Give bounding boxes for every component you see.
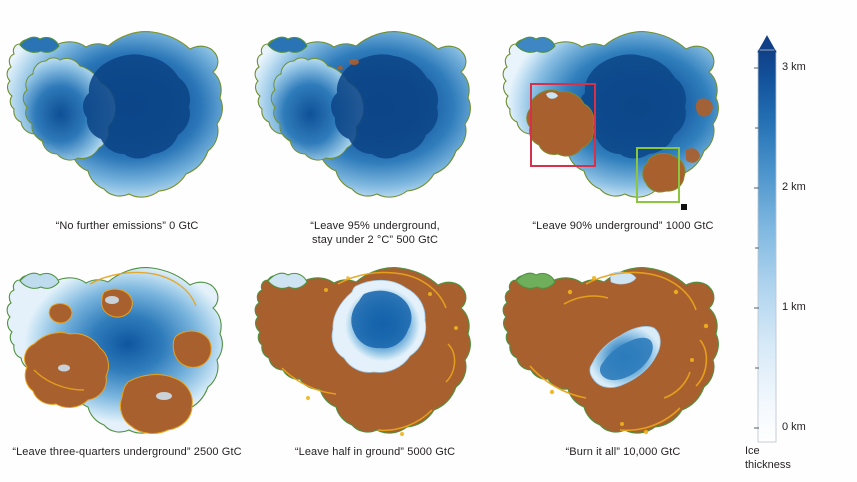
map-no-further-emissions [4, 8, 250, 213]
panel-caption-4: “Leave three-quarters underground” 2500 … [4, 446, 250, 460]
panel-caption-5: “Leave half in ground” 5000 GtC [252, 446, 498, 460]
panel-leave-90-underground: “Leave 90% underground” 1000 GtC [500, 8, 746, 253]
colorbar-tick-0km: 0 km [782, 421, 806, 433]
colorbar-legend: 3 km 2 km 1 km 0 km Ice thickness [745, 20, 857, 482]
panel-caption-2: “Leave 95% underground, stay under 2 °C”… [252, 220, 498, 247]
panel-leave-half-in-ground: “Leave half in ground” 5000 GtC [252, 248, 498, 482]
antarctic-ice-figure: “No further emissions” 0 GtC [0, 0, 857, 482]
panel-burn-it-all: “Burn it all” 10,000 GtC [500, 248, 746, 482]
colorbar-gradient [745, 20, 857, 482]
colorbar-tick-2km: 2 km [782, 181, 806, 193]
panel-caption-6: “Burn it all” 10,000 GtC [500, 446, 746, 460]
map-leave-half-in-ground [252, 248, 498, 446]
point-marker-icon [681, 204, 687, 210]
colorbar-title: Ice thickness [745, 445, 791, 472]
panel-leave-three-quarters-underground: “Leave three-quarters underground” 2500 … [4, 248, 250, 482]
panel-no-further-emissions: “No further emissions” 0 GtC [4, 8, 250, 253]
map-leave-three-quarters-underground [4, 248, 250, 446]
map-leave-90-underground [500, 8, 746, 213]
map-leave-95-underground [252, 8, 498, 213]
panel-caption-3: “Leave 90% underground” 1000 GtC [500, 220, 746, 234]
panel-caption-1: “No further emissions” 0 GtC [4, 220, 250, 234]
colorbar-tick-1km: 1 km [782, 301, 806, 313]
colorbar-tick-3km: 3 km [782, 61, 806, 73]
map-burn-it-all [500, 248, 746, 446]
panel-leave-95-underground: “Leave 95% underground, stay under 2 °C”… [252, 8, 498, 253]
